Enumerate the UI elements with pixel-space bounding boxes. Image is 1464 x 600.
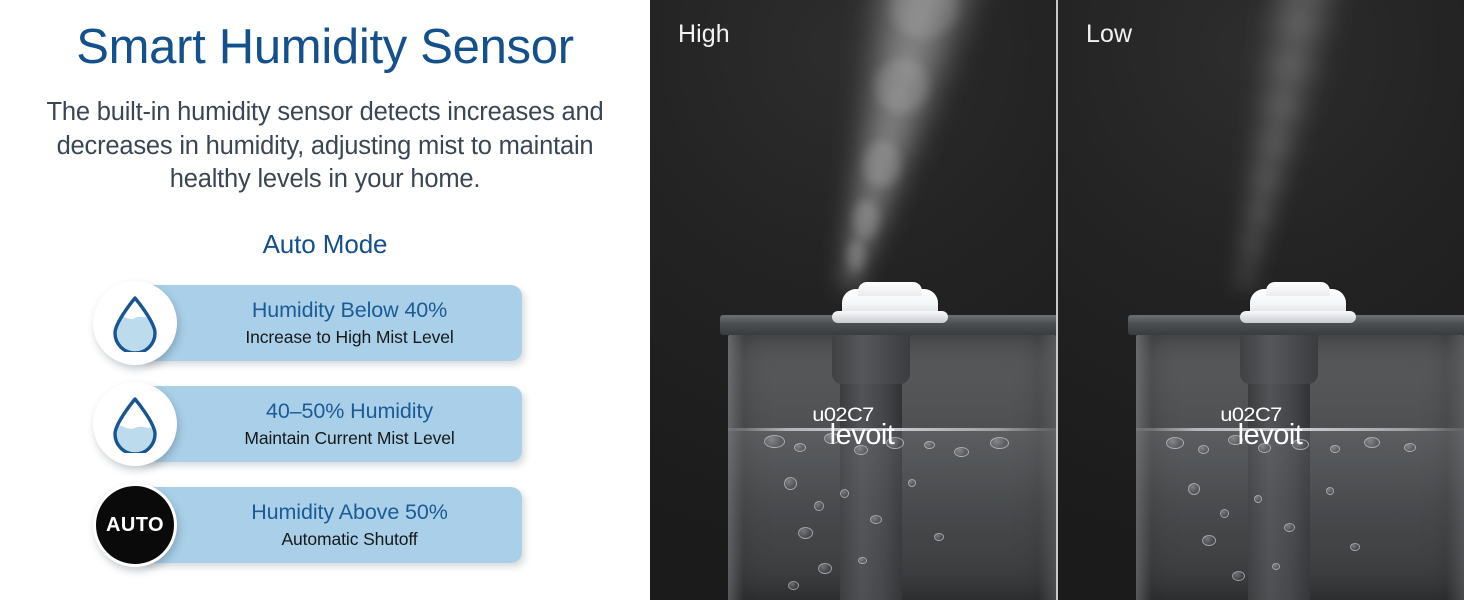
mist-plume-heavy-icon <box>736 0 1036 304</box>
humidity-rule-pill: Humidity Below 40% Increase to High Mist… <box>137 285 522 361</box>
logo-part-e: e <box>836 419 852 452</box>
list-item: Humidity Below 40% Increase to High Mist… <box>0 281 650 365</box>
auto-badge-label: AUTO <box>106 514 164 537</box>
rule-subtitle: Automatic Shutoff <box>281 528 417 551</box>
photo-label-low: Low <box>1086 20 1132 49</box>
page-subtitle: The built-in humidity sensor detects inc… <box>28 96 622 197</box>
rule-subtitle: Maintain Current Mist Level <box>244 427 454 450</box>
auto-badge-icon: AUTO <box>93 483 177 567</box>
water-body <box>728 431 1056 600</box>
list-item: 40–50% Humidity Maintain Current Mist Le… <box>0 382 650 466</box>
water-drop-full-icon <box>93 281 177 365</box>
photo-high-mist: High <box>650 0 1056 600</box>
photo-label-high: High <box>678 20 730 49</box>
water-tank <box>1136 332 1464 600</box>
auto-mode-heading: Auto Mode <box>0 229 650 260</box>
water-body <box>1136 431 1464 600</box>
product-photo-panel: High <box>650 0 1464 600</box>
page-title: Smart Humidity Sensor <box>0 22 650 73</box>
photo-low-mist: Low <box>1058 0 1464 600</box>
mist-nozzle-cap <box>842 289 938 317</box>
humidifier-unit: levoit <box>1120 295 1420 600</box>
brand-logo: levoit <box>712 419 1012 452</box>
rule-subtitle: Increase to High Mist Level <box>245 326 453 349</box>
mist-nozzle-cap <box>1250 289 1346 317</box>
mist-plume-light-icon <box>1150 0 1400 300</box>
humidity-rule-pill: Humidity Above 50% Automatic Shutoff <box>137 487 522 563</box>
water-drop-half-icon <box>93 382 177 466</box>
list-item: Humidity Above 50% Automatic Shutoff AUT… <box>0 483 650 567</box>
brand-logo: levoit <box>1120 419 1420 452</box>
rule-title: 40–50% Humidity <box>266 398 433 425</box>
logo-part-e: e <box>1244 419 1260 452</box>
panel-divider <box>1056 0 1058 600</box>
rule-title: Humidity Above 50% <box>251 499 448 526</box>
auto-mode-rows: Humidity Below 40% Increase to High Mist… <box>0 281 650 567</box>
rule-title: Humidity Below 40% <box>252 297 447 324</box>
water-tank <box>728 332 1056 600</box>
infographic-page: Smart Humidity Sensor The built-in humid… <box>0 0 1464 600</box>
info-panel: Smart Humidity Sensor The built-in humid… <box>0 0 650 600</box>
humidity-rule-pill: 40–50% Humidity Maintain Current Mist Le… <box>137 386 522 462</box>
humidifier-unit: levoit <box>712 295 1012 600</box>
